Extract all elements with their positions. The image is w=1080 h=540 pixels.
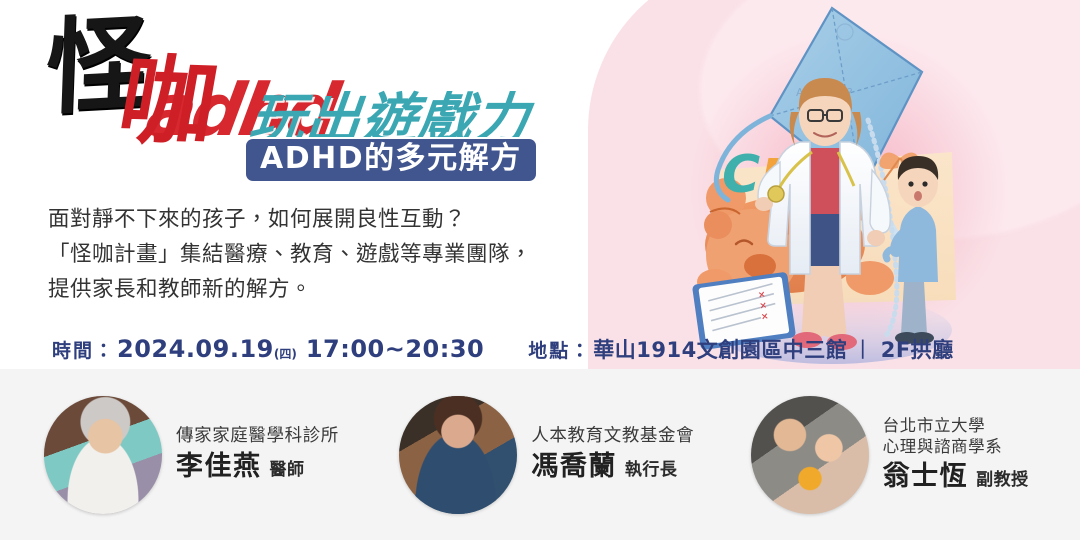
speaker-name-row: 李佳燕 醫師 xyxy=(176,450,339,485)
lead-paragraph: 面對靜不下來的孩子，如何展開良性互動？ 「怪咖計畫」集結醫療、教育、遊戲等專業團… xyxy=(48,203,558,307)
speaker-name-row: 馮喬蘭 執行長 xyxy=(531,450,694,485)
brush-character-ka: 咖 xyxy=(112,52,218,151)
event-time-range: 17:00~20:30 xyxy=(306,335,484,363)
speaker-title: 副教授 xyxy=(976,470,1029,492)
avatar xyxy=(399,396,517,514)
place-label: 地點： xyxy=(528,336,591,363)
avatar xyxy=(44,396,162,514)
event-venue: 華山1914文創園區中三館 xyxy=(593,334,847,364)
speaker-photo-li-jia-yan xyxy=(44,396,162,514)
speaker-photo-weng-shi-heng xyxy=(751,396,869,514)
speaker-name: 馮喬蘭 xyxy=(531,450,617,485)
lead-line-3: 提供家長和教師新的解方。 xyxy=(48,273,558,308)
speakers-band: 傳家家庭醫學科診所 李佳燕 醫師 人本教育文教基金會 馮喬蘭 執行長 xyxy=(0,369,1080,540)
event-venue-detail: 2F拱廳 xyxy=(881,334,954,364)
time-label: 時間： xyxy=(52,336,115,363)
top-content: 怪 adhd 咖 玩出遊戲力 ADHD的多元解方 面對靜不下來的孩子，如何展開良… xyxy=(0,0,1080,369)
lead-line-1: 面對靜不下來的孩子，如何展開良性互動？ xyxy=(48,203,558,238)
speaker-org-line: 心理與諮商學系 xyxy=(883,436,1029,457)
event-info-row: 時間： 2024.09.19 (四) 17:00~20:30 地點： 華山191… xyxy=(52,334,954,364)
speaker-card: 人本教育文教基金會 馮喬蘭 執行長 xyxy=(373,369,728,540)
speaker-text: 人本教育文教基金會 馮喬蘭 執行長 xyxy=(531,425,694,485)
speaker-title: 醫師 xyxy=(270,460,305,482)
speaker-text: 傳家家庭醫學科診所 李佳燕 醫師 xyxy=(176,425,339,485)
speaker-org-line: 傳家家庭醫學科診所 xyxy=(176,425,339,447)
speaker-org-line: 台北市立大學 xyxy=(883,415,1029,436)
speaker-name: 李佳燕 xyxy=(176,450,262,485)
poster-root: C R C ××× Am I Sick xyxy=(0,0,1080,540)
event-date: 2024.09.19 xyxy=(117,335,274,363)
speaker-photo-feng-qiao-lan xyxy=(399,396,517,514)
speaker-card: 傳家家庭醫學科診所 李佳燕 醫師 xyxy=(0,369,373,540)
speaker-title: 執行長 xyxy=(625,460,678,482)
event-weekday: (四) xyxy=(274,345,297,362)
speaker-card: 台北市立大學 心理與諮商學系 翁士恆 副教授 xyxy=(729,369,1080,540)
speaker-org-line: 人本教育文教基金會 xyxy=(531,425,694,447)
speaker-name: 翁士恆 xyxy=(883,460,969,495)
logo-block: 怪 adhd 咖 玩出遊戲力 ADHD的多元解方 xyxy=(28,8,568,186)
avatar xyxy=(751,396,869,514)
venue-separator: 丨 xyxy=(852,334,874,364)
speaker-text: 台北市立大學 心理與諮商學系 翁士恆 副教授 xyxy=(883,415,1029,495)
lead-line-2: 「怪咖計畫」集結醫療、教育、遊戲等專業團隊， xyxy=(48,238,558,273)
subtitle-badge: ADHD的多元解方 xyxy=(246,139,536,181)
speaker-name-row: 翁士恆 副教授 xyxy=(883,460,1029,495)
